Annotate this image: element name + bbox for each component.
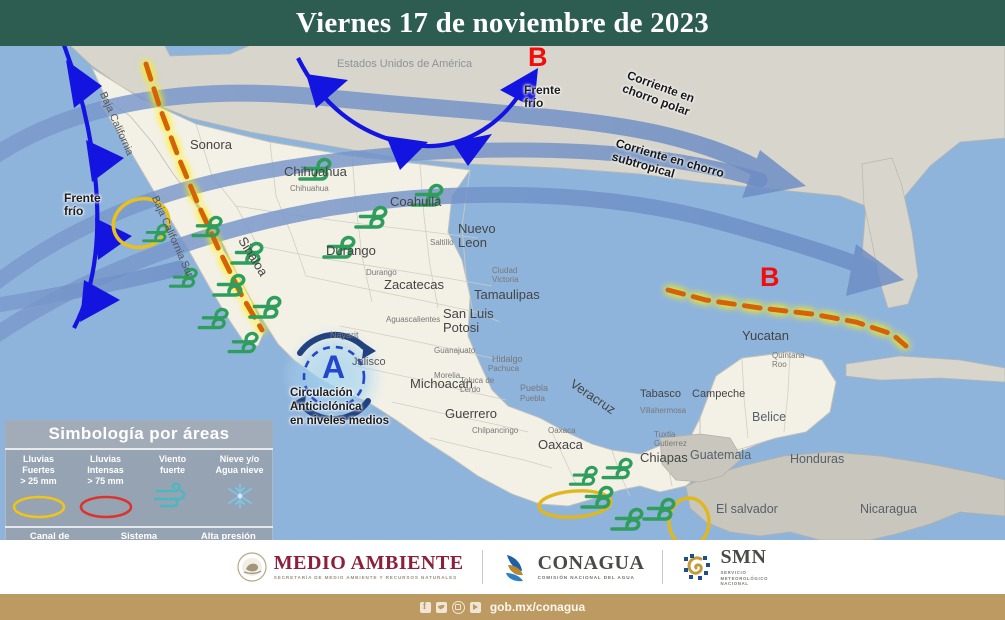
mexico-eagle-seal-icon bbox=[237, 552, 267, 582]
legend-item-nieve: Nieve y/o Agua nieve bbox=[206, 450, 273, 524]
map-canvas: Estados Unidos de América Sonora Chihuah… bbox=[0, 46, 1005, 540]
legend-caption: Viento fuerte bbox=[159, 454, 186, 476]
legend-row-areas: Lluvias Fuertes > 25 mm Lluvias Intensas… bbox=[5, 450, 273, 524]
low-pressure-symbol-caribbean: B bbox=[760, 264, 780, 291]
legend-title: Simbología por áreas bbox=[5, 420, 273, 450]
yellow-ellipse-icon bbox=[11, 490, 67, 524]
youtube-icon[interactable] bbox=[470, 602, 481, 613]
page-title: Viernes 17 de noviembre de 2023 bbox=[296, 7, 709, 40]
legend-item-sistema-frontal: Sistema frontal bbox=[94, 531, 183, 540]
logo-medio-ambiente: MEDIO AMBIENTE SECRETARÍA DE MEDIO AMBIE… bbox=[219, 552, 482, 582]
website-url[interactable]: gob.mx/conagua bbox=[490, 600, 585, 614]
snowflake-icon bbox=[223, 479, 257, 513]
logo-conagua: CONAGUA COMISIÓN NACIONAL DEL AGUA bbox=[483, 551, 663, 583]
high-pressure-symbol-A: A bbox=[322, 351, 345, 383]
legend-caption: Sistema frontal bbox=[121, 531, 157, 540]
legend-panel: Simbología por áreas Lluvias Fuertes > 2… bbox=[5, 420, 273, 540]
legend-caption: Alta presión bbox=[201, 531, 256, 540]
social-bar: gob.mx/conagua bbox=[0, 594, 1005, 620]
instagram-icon[interactable] bbox=[452, 601, 465, 614]
logo-subtitle-medio-ambiente: SECRETARÍA DE MEDIO AMBIENTE Y RECURSOS … bbox=[274, 576, 464, 581]
logo-title-smn: SMN bbox=[720, 547, 768, 567]
logo-smn: SMN SERVICIO METEOROLÓGICO NACIONAL bbox=[663, 547, 786, 586]
legend-item-canal-baja-presion: Canal de baja presión bbox=[5, 531, 94, 540]
conagua-water-eagle-icon bbox=[501, 551, 531, 583]
logo-title-medio-ambiente: MEDIO AMBIENTE bbox=[274, 553, 464, 573]
red-ellipse-icon bbox=[78, 490, 134, 524]
smn-spiral-icon bbox=[681, 551, 713, 583]
facebook-icon[interactable] bbox=[420, 602, 431, 613]
legend-item-viento-fuerte: Viento fuerte bbox=[139, 450, 206, 524]
logo-subtitle-smn: SERVICIO METEOROLÓGICO NACIONAL bbox=[720, 570, 768, 586]
legend-caption: Nieve y/o Agua nieve bbox=[215, 454, 263, 476]
wind-swirl-icon bbox=[153, 479, 193, 513]
legend-caption: Canal de baja presión bbox=[22, 531, 78, 540]
footer-logos: MEDIO AMBIENTE SECRETARÍA DE MEDIO AMBIE… bbox=[0, 540, 1005, 594]
legend-row-systems: Canal de baja presión Sistema frontal bbox=[5, 528, 273, 540]
legend-item-lluvias-intensas: Lluvias Intensas > 75 mm bbox=[72, 450, 139, 524]
twitter-icon[interactable] bbox=[436, 602, 447, 613]
legend-item-lluvias-fuertes: Lluvias Fuertes > 25 mm bbox=[5, 450, 72, 524]
header-bar: Viernes 17 de noviembre de 2023 bbox=[0, 0, 1005, 46]
low-pressure-symbol-usa: B bbox=[528, 46, 548, 71]
legend-caption: Lluvias Intensas > 75 mm bbox=[87, 454, 124, 487]
legend-caption: Lluvias Fuertes > 25 mm bbox=[20, 454, 56, 487]
logo-subtitle-conagua: COMISIÓN NACIONAL DEL AGUA bbox=[538, 576, 645, 581]
weather-map-infographic: Viernes 17 de noviembre de 2023 bbox=[0, 0, 1005, 620]
logo-title-conagua: CONAGUA bbox=[538, 553, 645, 573]
legend-item-alta-presion: Alta presión A bbox=[184, 531, 273, 540]
